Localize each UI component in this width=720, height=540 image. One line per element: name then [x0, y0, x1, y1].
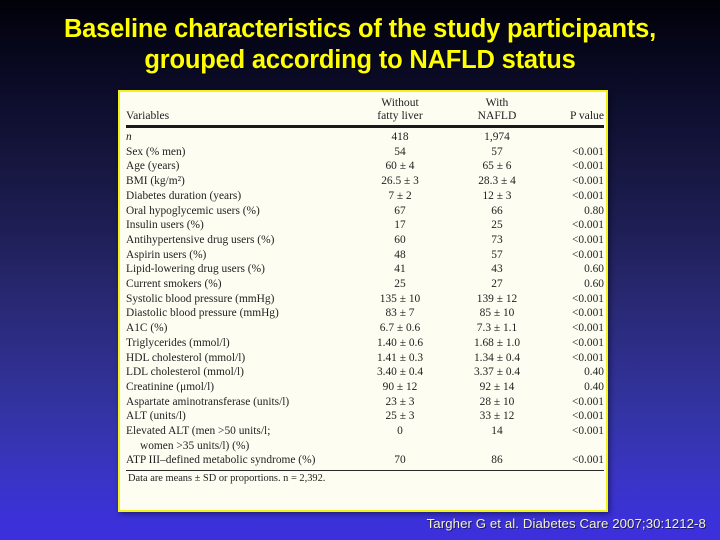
table-row: HDL cholesterol (mmol/l)1.41 ± 0.31.34 ±… — [126, 351, 604, 366]
cell-without-fatty-liver: 48 — [348, 248, 452, 263]
cell-variable: HDL cholesterol (mmol/l) — [126, 351, 348, 366]
column-header-p-value-label: P value — [542, 109, 604, 122]
cell-variable: ATP III–defined metabolic syndrome (%) — [126, 453, 348, 468]
cell-with-nafld: 85 ± 10 — [452, 306, 542, 321]
cell-p-value: <0.001 — [542, 218, 604, 233]
cell-variable: ALT (units/l) — [126, 409, 348, 424]
cell-p-value: 0.40 — [542, 380, 604, 395]
table-row: Triglycerides (mmol/l)1.40 ± 0.61.68 ± 1… — [126, 336, 604, 351]
variable-label: HDL cholesterol (mmol/l) — [126, 352, 245, 364]
variable-label: Elevated ALT (men >50 units/l; — [126, 425, 270, 437]
variable-label: ALT (units/l) — [126, 410, 186, 422]
table-row: A1C (%)6.7 ± 0.67.3 ± 1.1<0.001 — [126, 321, 604, 336]
cell-variable: n — [126, 130, 348, 145]
table-row: Insulin users (%)1725<0.001 — [126, 218, 604, 233]
table-row: Antihypertensive drug users (%)6073<0.00… — [126, 233, 604, 248]
cell-with-nafld: 14 — [452, 424, 542, 439]
table-row: LDL cholesterol (mmol/l)3.40 ± 0.43.37 ±… — [126, 365, 604, 380]
variable-label: Diastolic blood pressure (mmHg) — [126, 307, 279, 319]
cell-p-value: <0.001 — [542, 424, 604, 439]
table-footnote: Data are means ± SD or proportions. n = … — [126, 472, 604, 486]
cell-variable: Current smokers (%) — [126, 277, 348, 292]
cell-without-fatty-liver: 3.40 ± 0.4 — [348, 365, 452, 380]
cell-p-value: <0.001 — [542, 321, 604, 336]
variable-label: Antihypertensive drug users (%) — [126, 234, 274, 246]
cell-with-nafld: 28.3 ± 4 — [452, 174, 542, 189]
table-row: n4181,974 — [126, 130, 604, 145]
footnote-cell: Data are means ± SD or proportions. n = … — [126, 472, 604, 486]
cell-p-value: <0.001 — [542, 453, 604, 468]
slide-canvas: Baseline characteristics of the study pa… — [0, 0, 720, 540]
cell-variable: Systolic blood pressure (mmHg) — [126, 292, 348, 307]
cell-p-value: <0.001 — [542, 336, 604, 351]
cell-variable: BMI (kg/m²) — [126, 174, 348, 189]
cell-variable: Diastolic blood pressure (mmHg) — [126, 306, 348, 321]
table-row: Aspartate aminotransferase (units/l)23 ±… — [126, 395, 604, 410]
table-foot: Data are means ± SD or proportions. n = … — [126, 468, 604, 486]
cell-with-nafld: 33 ± 12 — [452, 409, 542, 424]
cell-with-nafld: 66 — [452, 204, 542, 219]
cell-without-fatty-liver: 83 ± 7 — [348, 306, 452, 321]
table-row: BMI (kg/m²)26.5 ± 328.3 ± 4<0.001 — [126, 174, 604, 189]
cell-with-nafld: 57 — [452, 248, 542, 263]
cell-variable: Antihypertensive drug users (%) — [126, 233, 348, 248]
cell-with-nafld: 73 — [452, 233, 542, 248]
page-title-line-2: grouped according to NAFLD status — [0, 45, 720, 76]
column-header-variables-label: Variables — [126, 109, 348, 122]
cell-p-value: <0.001 — [542, 395, 604, 410]
cell-with-nafld-continuation — [452, 439, 542, 454]
cell-without-fatty-liver: 17 — [348, 218, 452, 233]
cell-variable: Aspirin users (%) — [126, 248, 348, 263]
variable-label-continuation: women >35 units/l) (%) — [126, 439, 348, 454]
cell-variable: Diabetes duration (years) — [126, 189, 348, 204]
cell-variable-continuation: women >35 units/l) (%) — [126, 439, 348, 454]
cell-without-fatty-liver: 7 ± 2 — [348, 189, 452, 204]
page-title: Baseline characteristics of the study pa… — [0, 14, 720, 76]
table-head: Variables Without fatty liver With NAFLD… — [126, 96, 604, 130]
cell-p-value: <0.001 — [542, 174, 604, 189]
cell-without-fatty-liver: 60 ± 4 — [348, 159, 452, 174]
cell-p-value: <0.001 — [542, 248, 604, 263]
table-row-continuation: women >35 units/l) (%) — [126, 439, 604, 454]
cell-p-value: <0.001 — [542, 233, 604, 248]
table-row: Diabetes duration (years)7 ± 212 ± 3<0.0… — [126, 189, 604, 204]
variable-label: Age (years) — [126, 160, 179, 172]
cell-with-nafld: 27 — [452, 277, 542, 292]
variable-label: Lipid-lowering drug users (%) — [126, 263, 265, 275]
cell-p-value: 0.40 — [542, 365, 604, 380]
cell-without-fatty-liver: 135 ± 10 — [348, 292, 452, 307]
table-inner: Variables Without fatty liver With NAFLD… — [126, 96, 604, 506]
cell-with-nafld: 28 ± 10 — [452, 395, 542, 410]
cell-variable: Triglycerides (mmol/l) — [126, 336, 348, 351]
variable-label: ATP III–defined metabolic syndrome (%) — [126, 454, 315, 466]
cell-without-fatty-liver: 6.7 ± 0.6 — [348, 321, 452, 336]
table-row: Elevated ALT (men >50 units/l;014<0.001 — [126, 424, 604, 439]
cell-p-value: <0.001 — [542, 292, 604, 307]
cell-with-nafld: 7.3 ± 1.1 — [452, 321, 542, 336]
table-header-row: Variables Without fatty liver With NAFLD… — [126, 96, 604, 124]
table-row: Lipid-lowering drug users (%)41430.60 — [126, 262, 604, 277]
cell-with-nafld: 12 ± 3 — [452, 189, 542, 204]
cell-with-nafld: 1.34 ± 0.4 — [452, 351, 542, 366]
cell-variable: Oral hypoglycemic users (%) — [126, 204, 348, 219]
column-header-without-line-2: fatty liver — [348, 109, 452, 122]
cell-p-value: 0.60 — [542, 277, 604, 292]
cell-with-nafld: 1,974 — [452, 130, 542, 145]
variable-label: Systolic blood pressure (mmHg) — [126, 293, 274, 305]
variable-label: Diabetes duration (years) — [126, 190, 241, 202]
table-panel: Variables Without fatty liver With NAFLD… — [118, 90, 608, 512]
cell-without-fatty-liver: 418 — [348, 130, 452, 145]
cell-without-fatty-liver: 41 — [348, 262, 452, 277]
cell-variable: Insulin users (%) — [126, 218, 348, 233]
variable-label: Aspartate aminotransferase (units/l) — [126, 396, 289, 408]
cell-without-fatty-liver: 26.5 ± 3 — [348, 174, 452, 189]
cell-p-value-continuation — [542, 439, 604, 454]
cell-with-nafld: 65 ± 6 — [452, 159, 542, 174]
cell-variable: Aspartate aminotransferase (units/l) — [126, 395, 348, 410]
cell-without-fatty-liver: 70 — [348, 453, 452, 468]
variable-label: Aspirin users (%) — [126, 249, 206, 261]
cell-variable: A1C (%) — [126, 321, 348, 336]
cell-p-value: 0.60 — [542, 262, 604, 277]
table-row: Age (years)60 ± 465 ± 6<0.001 — [126, 159, 604, 174]
table-row: ALT (units/l)25 ± 333 ± 12<0.001 — [126, 409, 604, 424]
table-row: Sex (% men)5457<0.001 — [126, 145, 604, 160]
column-header-p-value: P value — [542, 96, 604, 124]
cell-with-nafld: 86 — [452, 453, 542, 468]
variable-label: Triglycerides (mmol/l) — [126, 337, 230, 349]
cell-without-fatty-liver: 25 — [348, 277, 452, 292]
footnote-row: Data are means ± SD or proportions. n = … — [126, 472, 604, 486]
cell-with-nafld: 3.37 ± 0.4 — [452, 365, 542, 380]
cell-without-fatty-liver: 67 — [348, 204, 452, 219]
variable-label: LDL cholesterol (mmol/l) — [126, 366, 244, 378]
column-header-without-line-1: Without — [348, 96, 452, 109]
cell-variable: Creatinine (μmol/l) — [126, 380, 348, 395]
cell-p-value — [542, 130, 604, 145]
cell-p-value: <0.001 — [542, 159, 604, 174]
column-header-without-fatty-liver: Without fatty liver — [348, 96, 452, 124]
table-row: Oral hypoglycemic users (%)67660.80 — [126, 204, 604, 219]
cell-p-value: <0.001 — [542, 189, 604, 204]
cell-without-fatty-liver: 23 ± 3 — [348, 395, 452, 410]
cell-without-fatty-liver: 90 ± 12 — [348, 380, 452, 395]
table-row: Current smokers (%)25270.60 — [126, 277, 604, 292]
variable-label: BMI (kg/m²) — [126, 175, 185, 187]
cell-p-value: <0.001 — [542, 306, 604, 321]
cell-with-nafld: 57 — [452, 145, 542, 160]
variable-label: n — [126, 131, 132, 143]
column-header-variables: Variables — [126, 96, 348, 124]
table-row: Diastolic blood pressure (mmHg)83 ± 785 … — [126, 306, 604, 321]
variable-label: Sex (% men) — [126, 146, 185, 158]
cell-without-fatty-liver: 60 — [348, 233, 452, 248]
cell-p-value: <0.001 — [542, 409, 604, 424]
cell-p-value: <0.001 — [542, 145, 604, 160]
header-double-rule — [126, 125, 604, 128]
cell-without-fatty-liver: 0 — [348, 424, 452, 439]
cell-with-nafld: 25 — [452, 218, 542, 233]
variable-label: A1C (%) — [126, 322, 167, 334]
cell-with-nafld: 43 — [452, 262, 542, 277]
cell-without-fatty-liver: 25 ± 3 — [348, 409, 452, 424]
table-row: Creatinine (μmol/l)90 ± 1292 ± 140.40 — [126, 380, 604, 395]
citation: Targher G et al. Diabetes Care 2007;30:1… — [427, 516, 706, 531]
table-row: Aspirin users (%)4857<0.001 — [126, 248, 604, 263]
table-row: Systolic blood pressure (mmHg)135 ± 1013… — [126, 292, 604, 307]
variable-label: Current smokers (%) — [126, 278, 222, 290]
cell-with-nafld: 92 ± 14 — [452, 380, 542, 395]
cell-without-fatty-liver: 1.41 ± 0.3 — [348, 351, 452, 366]
variable-label: Creatinine (μmol/l) — [126, 381, 214, 393]
cell-without-fatty-liver-continuation — [348, 439, 452, 454]
bottom-rule — [126, 470, 604, 471]
cell-p-value: 0.80 — [542, 204, 604, 219]
cell-p-value: <0.001 — [542, 351, 604, 366]
column-header-with-line-2: NAFLD — [452, 109, 542, 122]
cell-without-fatty-liver: 54 — [348, 145, 452, 160]
cell-variable: Age (years) — [126, 159, 348, 174]
column-header-with-line-1: With — [452, 96, 542, 109]
cell-with-nafld: 1.68 ± 1.0 — [452, 336, 542, 351]
variable-label: Insulin users (%) — [126, 219, 204, 231]
page-title-line-1: Baseline characteristics of the study pa… — [0, 14, 720, 45]
cell-with-nafld: 139 ± 12 — [452, 292, 542, 307]
table-body: n4181,974Sex (% men)5457<0.001Age (years… — [126, 130, 604, 468]
variable-label: Oral hypoglycemic users (%) — [126, 205, 260, 217]
table-row: ATP III–defined metabolic syndrome (%)70… — [126, 453, 604, 468]
cell-without-fatty-liver: 1.40 ± 0.6 — [348, 336, 452, 351]
cell-variable: LDL cholesterol (mmol/l) — [126, 365, 348, 380]
cell-variable: Elevated ALT (men >50 units/l; — [126, 424, 348, 439]
cell-variable: Lipid-lowering drug users (%) — [126, 262, 348, 277]
column-header-with-nafld: With NAFLD — [452, 96, 542, 124]
baseline-characteristics-table: Variables Without fatty liver With NAFLD… — [126, 96, 604, 486]
cell-variable: Sex (% men) — [126, 145, 348, 160]
